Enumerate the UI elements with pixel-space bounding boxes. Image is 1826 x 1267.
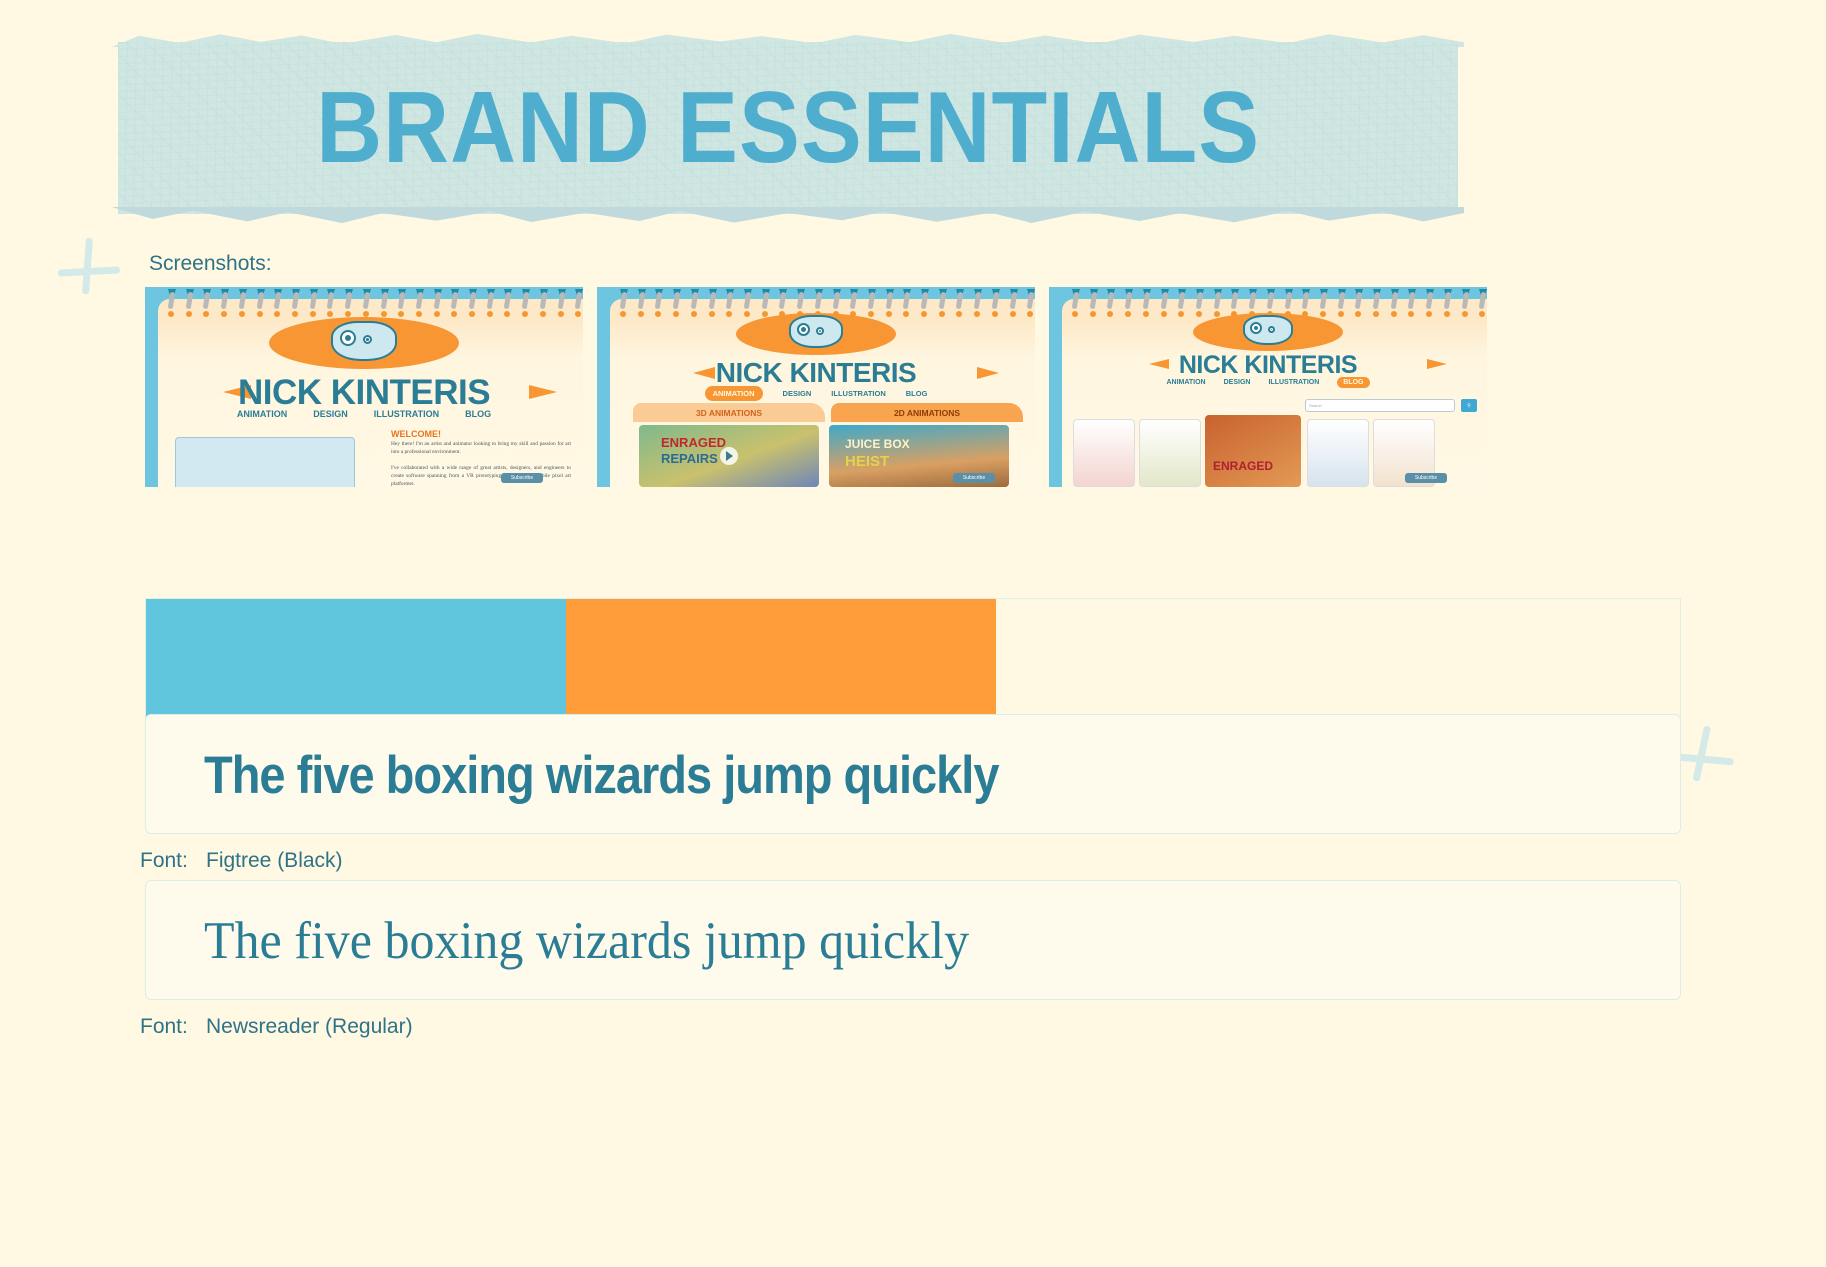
screenshot-gallery: NICK KINTERIS ANIMATION DESIGN ILLUSTRAT… [145,287,1487,487]
gallery-item[interactable] [1307,419,1369,487]
font-caption-serif: Font: Newsreader (Regular) [140,1015,413,1039]
site-nav: ANIMATION DESIGN ILLUSTRATION BLOG [1049,377,1487,388]
spiral-tooth [1391,289,1396,311]
spiral-tooth [1125,289,1130,311]
welcome-paragraph-2: I've collaborated with a wide range of g… [391,465,571,487]
color-swatch-orange [566,599,996,719]
spiral-tooth [416,289,421,311]
browser-frame: NICK KINTERIS ANIMATION DESIGN ILLUSTRAT… [1049,287,1487,487]
spiral-ring [292,311,298,317]
spiral-tooth [1027,289,1032,311]
nav-item-blog[interactable]: BLOG [906,389,928,398]
spiral-ring [1462,311,1468,317]
spiral-tooth [274,289,279,311]
color-swatch-bar [145,598,1681,720]
spiral-tooth [1355,289,1360,311]
spiral-binding [1062,287,1487,315]
spiral-tooth [1214,289,1219,311]
spiral-tooth [1426,289,1431,311]
tab-2d-animations[interactable]: 2D ANIMATIONS [831,403,1023,422]
search-input[interactable]: Search [1305,399,1455,412]
subscribe-button[interactable]: Subscribe [1405,473,1447,483]
spiral-tooth [1010,289,1015,311]
search-placeholder: Search [1306,403,1322,408]
spiral-tooth [1444,289,1449,311]
nav-item-animation[interactable]: ANIMATION [237,409,287,419]
spiral-tooth [620,289,625,311]
spiral-tooth [726,289,731,311]
spiral-tooth [363,289,368,311]
font-sample-sans: The five boxing wizards jump quickly [146,743,999,805]
spiral-ring [1214,311,1220,317]
nav-item-design[interactable]: DESIGN [313,409,348,419]
spiral-tooth [1231,289,1236,311]
spiral-tooth [1249,289,1254,311]
play-icon[interactable] [720,447,738,465]
spiral-ring [1444,311,1450,317]
brand-essentials-page: BRAND ESSENTIALS Screenshots: NI [0,0,1826,1267]
nav-item-design[interactable]: DESIGN [1224,379,1251,386]
spiral-ring [558,311,564,317]
welcome-paragraph-1: Hey there! I'm an artist and animator lo… [391,441,571,457]
spiral-tooth [522,289,527,311]
spiral-tooth [1090,289,1095,311]
spiral-tooth [381,289,386,311]
spiral-ring [434,311,440,317]
spiral-tooth [974,289,979,311]
spiral-tooth [1196,289,1201,311]
subscribe-button[interactable]: Subscribe [953,473,995,483]
spiral-tooth [903,289,908,311]
font-specimen-sans: The five boxing wizards jump quickly [145,714,1681,834]
spiral-tooth [744,289,749,311]
spiral-ring [939,311,945,317]
spiral-tooth [327,289,332,311]
spiral-ring [744,311,750,317]
screenshot-thumbnail-home[interactable]: NICK KINTERIS ANIMATION DESIGN ILLUSTRAT… [145,287,583,487]
font-value: Figtree (Black) [206,849,343,873]
nav-item-illustration[interactable]: ILLUSTRATION [374,409,439,419]
subscribe-button[interactable]: Subscribe [501,473,543,483]
gallery-item-featured[interactable]: ENRAGED [1205,415,1301,487]
spiral-tooth [575,289,580,311]
spiral-binding [158,287,583,315]
plus-decoration-icon [58,238,124,298]
spiral-tooth [168,289,173,311]
spiral-tooth [434,289,439,311]
spiral-ring [381,311,387,317]
spiral-tooth [1107,289,1112,311]
spiral-ring [886,311,892,317]
spiral-tooth [850,289,855,311]
spiral-ring [868,311,874,317]
font-specimen-serif: The five boxing wizards jump quickly [145,880,1681,1000]
spiral-ring [239,311,245,317]
spiral-binding [610,287,1035,315]
spiral-tooth [1408,289,1413,311]
site-nav: ANIMATION DESIGN ILLUSTRATION BLOG [145,409,583,419]
nav-item-illustration[interactable]: ILLUSTRATION [831,389,885,398]
spiral-tooth [833,289,838,311]
spiral-tooth [257,289,262,311]
nav-item-animation[interactable]: ANIMATION [1166,379,1205,386]
spiral-tooth [709,289,714,311]
spiral-tooth [1373,289,1378,311]
spiral-ring [921,311,927,317]
spiral-tooth [655,289,660,311]
video-card-enraged-repairs[interactable]: ENRAGED REPAIRS [639,425,819,487]
nav-item-animation-active[interactable]: ANIMATION [705,386,763,401]
browser-frame: NICK KINTERIS ANIMATION DESIGN ILLUSTRAT… [145,287,583,487]
spiral-ring [1143,311,1149,317]
site-nav: ANIMATION DESIGN ILLUSTRATION BLOG [597,386,1035,401]
spiral-tooth [292,289,297,311]
spiral-tooth [451,289,456,311]
spiral-tooth [1072,289,1077,311]
spiral-ring [1196,311,1202,317]
spiral-tooth [203,289,208,311]
spiral-tooth [921,289,926,311]
spiral-ring [638,311,644,317]
video-title-line1: JUICE BOX [845,437,910,451]
spiral-ring [709,311,715,317]
spiral-ring [1072,311,1078,317]
featured-title: ENRAGED [1213,459,1273,473]
spiral-tooth [992,289,997,311]
spiral-ring [1090,311,1096,317]
font-sample-serif: The five boxing wizards jump quickly [146,910,969,971]
spiral-ring [186,311,192,317]
site-brand-name: NICK KINTERIS [1049,351,1487,380]
spiral-tooth [469,289,474,311]
spiral-ring [1391,311,1397,317]
font-label: Font: [140,849,206,873]
color-swatch-sky-blue [146,599,566,719]
spiral-tooth [345,289,350,311]
video-title-line2: REPAIRS [661,451,718,466]
video-title-line1: ENRAGED [661,435,726,450]
spiral-ring [620,311,626,317]
nav-item-illustration[interactable]: ILLUSTRATION [1268,379,1319,386]
spiral-tooth [1338,289,1343,311]
spiral-ring [540,311,546,317]
spiral-tooth [487,289,492,311]
spiral-ring [1320,311,1326,317]
spiral-tooth [1285,289,1290,311]
nav-item-design[interactable]: DESIGN [783,389,812,398]
screenshots-label: Screenshots: [149,252,272,276]
spiral-tooth [762,289,767,311]
spiral-tooth [673,289,678,311]
spiral-tooth [504,289,509,311]
spiral-tooth [797,289,802,311]
screenshot-thumbnail-illustration[interactable]: NICK KINTERIS ANIMATION DESIGN ILLUSTRAT… [1049,287,1487,487]
spiral-tooth [1178,289,1183,311]
spiral-tooth [540,289,545,311]
color-swatch-cream [996,599,1680,719]
spiral-ring [1010,311,1016,317]
spiral-ring [1338,311,1344,317]
welcome-heading: WELCOME! [391,429,441,439]
spiral-ring [992,311,998,317]
spiral-tooth [886,289,891,311]
spiral-tooth [815,289,820,311]
spiral-tooth [1302,289,1307,311]
spiral-tooth [638,289,643,311]
spiral-tooth [239,289,244,311]
spiral-tooth [1462,289,1467,311]
spiral-ring [416,311,422,317]
screenshot-thumbnail-animation[interactable]: NICK KINTERIS ANIMATION DESIGN ILLUSTRAT… [597,287,1035,487]
spiral-tooth [691,289,696,311]
nav-item-blog[interactable]: BLOG [465,409,491,419]
spiral-ring [691,311,697,317]
spiral-tooth [1479,289,1484,311]
spiral-tooth [221,289,226,311]
page-title: BRAND ESSENTIALS [316,70,1260,187]
spiral-tooth [310,289,315,311]
site-brand-name: NICK KINTERIS [145,373,583,413]
font-label: Font: [140,1015,206,1039]
spiral-ring [168,311,174,317]
spiral-tooth [186,289,191,311]
video-title-line2: HEIST [845,453,889,470]
nav-item-blog-active[interactable]: BLOG [1337,377,1369,388]
spiral-tooth [558,289,563,311]
font-value: Newsreader (Regular) [206,1015,413,1039]
site-brand-name: NICK KINTERIS [597,357,1035,389]
font-caption-sans: Font: Figtree (Black) [140,849,343,873]
tab-3d-animations[interactable]: 3D ANIMATIONS [633,403,825,422]
spiral-ring [762,311,768,317]
spiral-ring [469,311,475,317]
spiral-tooth [779,289,784,311]
spiral-ring [1161,311,1167,317]
search-icon[interactable]: ⚲ [1461,399,1477,412]
gallery-item[interactable] [1073,419,1135,487]
spiral-ring [310,311,316,317]
spiral-tooth [956,289,961,311]
spiral-tooth [1143,289,1148,311]
animation-tabs: 3D ANIMATIONS 2D ANIMATIONS [633,403,1023,422]
spiral-tooth [398,289,403,311]
spiral-tooth [939,289,944,311]
browser-frame: NICK KINTERIS ANIMATION DESIGN ILLUSTRAT… [597,287,1035,487]
page-header-banner: BRAND ESSENTIALS [118,42,1458,214]
illustration-sketch [175,437,355,487]
spiral-tooth [1320,289,1325,311]
spiral-tooth [1161,289,1166,311]
spiral-ring [257,311,263,317]
gallery-item[interactable] [1139,419,1201,487]
spiral-tooth [868,289,873,311]
spiral-tooth [1267,289,1272,311]
spiral-ring [1373,311,1379,317]
spiral-ring [487,311,493,317]
